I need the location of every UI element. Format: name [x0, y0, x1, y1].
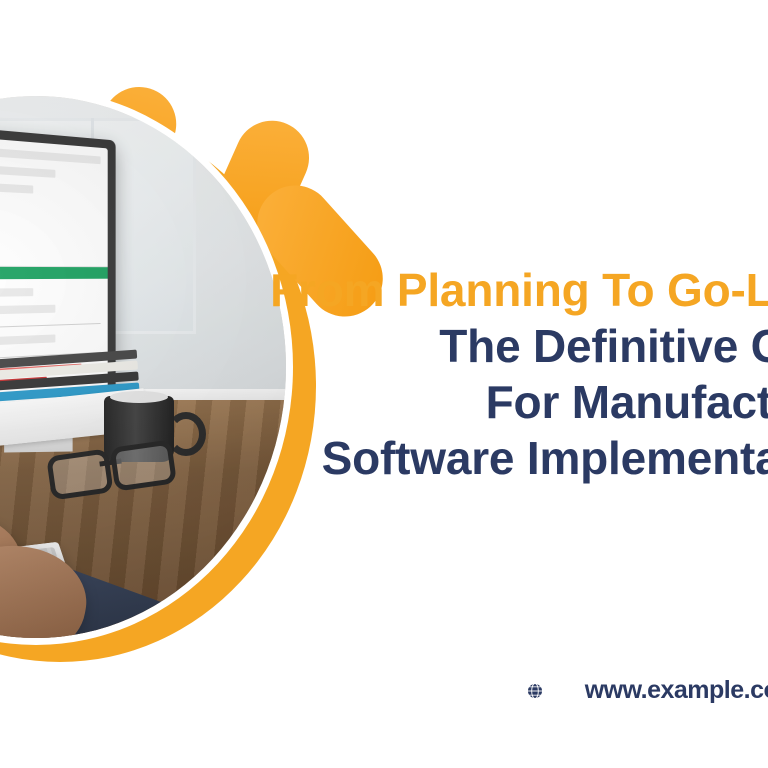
poster-canvas: From Planning To Go-Live: The Definitive…	[0, 0, 768, 768]
footer-url-block: www.example.com	[525, 676, 768, 705]
headline-line-3: For Manufacturing	[0, 374, 768, 430]
form-text-line	[0, 165, 55, 178]
form-text-line	[0, 183, 33, 194]
headline-block: From Planning To Go-Live: The Definitive…	[0, 262, 768, 486]
website-url[interactable]: www.example.com	[585, 676, 768, 705]
headline-line-2: The Definitive Guide	[0, 318, 768, 374]
form-top-section	[0, 147, 108, 267]
headline-line-4: Software Implementation	[0, 430, 768, 486]
headline-line-1: From Planning To Go-Live:	[0, 262, 768, 318]
form-text-line	[0, 147, 101, 164]
globe-icon	[525, 681, 545, 701]
